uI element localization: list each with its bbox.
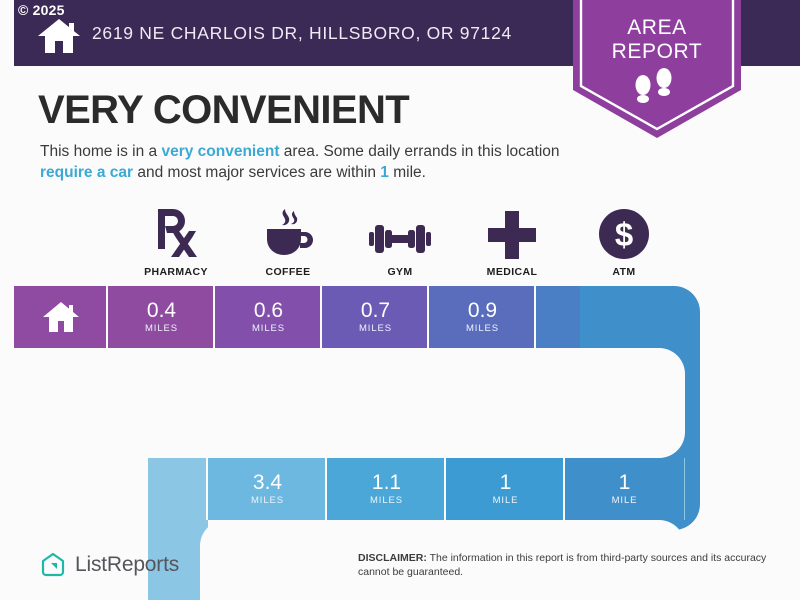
- bar2-lead-segment: [148, 458, 208, 520]
- distance-unit: MILE: [612, 495, 638, 506]
- property-address: 2619 NE CHARLOIS DR, HILLSBORO, OR 97124: [92, 23, 512, 44]
- ribbon-line-2: REPORT: [563, 40, 751, 64]
- blurb-part-3: and most major services are within: [133, 164, 380, 181]
- bar2-segment: 1.1 MILES: [327, 458, 446, 520]
- amenity-label: COFFEE: [266, 266, 311, 278]
- blurb-highlight-2: require a car: [40, 164, 133, 181]
- amenity-icon-row-top: PHARMACY COFFEE: [120, 205, 680, 278]
- distance-value: 0.7: [361, 300, 390, 322]
- distance-value: 1: [619, 472, 631, 494]
- white-content-card: [148, 348, 685, 458]
- bar1-segment: 0.6 MILES: [215, 286, 322, 348]
- bar2-segment: 1 MILE: [565, 458, 684, 520]
- blurb-highlight-1: very convenient: [161, 143, 279, 160]
- page-title: VERY CONVENIENT: [38, 88, 409, 133]
- distance-unit: MILE: [493, 495, 519, 506]
- area-report-infographic: © 2025 2619 NE CHARLOIS DR, HILLSBORO, O…: [0, 0, 800, 600]
- distance-value: 0.6: [254, 300, 283, 322]
- bar1-segment: 0.7 MILES: [322, 286, 429, 348]
- distance-unit: MILES: [145, 323, 178, 334]
- bar1-segment: 0.4 MILES: [108, 286, 215, 348]
- ribbon-text: AREA REPORT: [563, 16, 751, 64]
- blurb-highlight-3: 1: [380, 164, 389, 181]
- distance-unit: MILES: [466, 323, 499, 334]
- dollar-circle-icon: $: [599, 205, 649, 259]
- distance-value: 0.4: [147, 300, 176, 322]
- amenity-gym: GYM: [344, 205, 456, 278]
- listreports-logo[interactable]: ListReports: [40, 552, 179, 578]
- dumbbell-icon: [369, 205, 431, 259]
- blurb-part-4: mile.: [389, 164, 426, 181]
- distance-value: 3.4: [253, 472, 282, 494]
- amenity-atm: $ ATM: [568, 205, 680, 278]
- ribbon-line-1: AREA: [563, 16, 751, 40]
- blurb-part-2: area. Some daily errands in this locatio…: [280, 143, 560, 160]
- amenity-pharmacy: PHARMACY: [120, 205, 232, 278]
- blurb-part-1: This home is in a: [40, 143, 161, 160]
- amenity-label: GYM: [387, 266, 412, 278]
- rx-icon: [152, 205, 200, 259]
- listreports-tag-icon: [40, 552, 66, 578]
- bar1-segment: 0.9 MILES: [429, 286, 536, 348]
- distance-value: 0.9: [468, 300, 497, 322]
- amenity-medical: MEDICAL: [456, 205, 568, 278]
- medical-cross-icon: [488, 205, 536, 259]
- disclaimer-label: DISCLAIMER:: [358, 552, 427, 564]
- home-icon: [41, 300, 81, 334]
- amenity-label: PHARMACY: [144, 266, 208, 278]
- bar2-segment: 3.4 MILES: [208, 458, 327, 520]
- distance-unit: MILES: [251, 495, 284, 506]
- distance-bar-bottom: 3.4 MILES 1.1 MILES 1 MILE 1 MILE: [148, 458, 685, 520]
- distance-unit: MILES: [359, 323, 392, 334]
- svg-text:$: $: [615, 216, 633, 253]
- summary-text: This home is in a very convenient area. …: [40, 141, 560, 183]
- bar1-home-segment: [14, 286, 108, 348]
- area-report-ribbon: AREA REPORT: [563, 0, 751, 146]
- header-home-icon: [36, 16, 82, 56]
- amenity-coffee: COFFEE: [232, 205, 344, 278]
- distance-unit: MILES: [252, 323, 285, 334]
- copyright-label: © 2025: [18, 2, 65, 18]
- listreports-logo-text: ListReports: [75, 553, 179, 577]
- distance-value: 1.1: [372, 472, 401, 494]
- coffee-cup-icon: [261, 205, 315, 259]
- distance-unit: MILES: [370, 495, 403, 506]
- amenity-label: MEDICAL: [487, 266, 538, 278]
- amenity-label: ATM: [612, 266, 635, 278]
- bar2-segment: 1 MILE: [446, 458, 565, 520]
- disclaimer: DISCLAIMER: The information in this repo…: [358, 551, 778, 579]
- distance-value: 1: [500, 472, 512, 494]
